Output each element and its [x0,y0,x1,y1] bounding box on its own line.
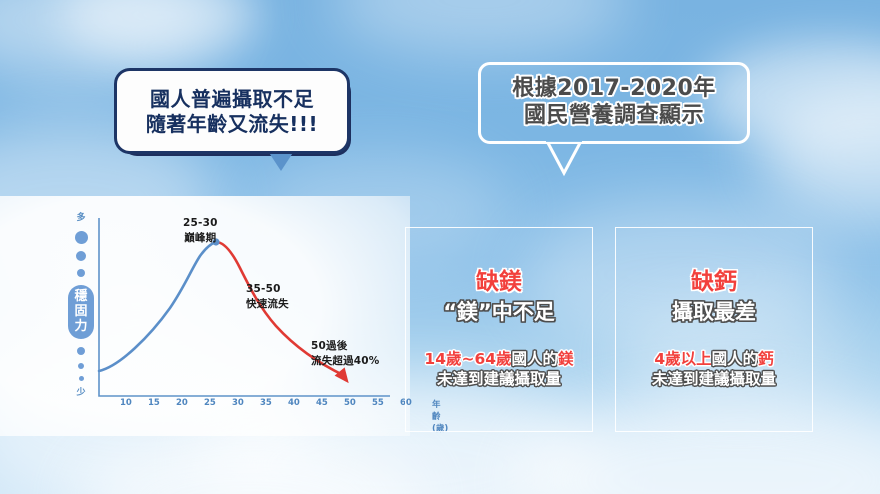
bubble-secondary-tail [478,141,598,187]
annotation-after-fifty: 50過後 流失超過40% [311,339,380,369]
card-calcium-body: 4歲以上國人的鈣 未達到建議攝取量 [652,349,776,389]
y-axis-label-char-2: 固 [74,305,87,319]
x-tick-label: 15 [148,398,160,408]
y-axis-dot-large [75,231,88,244]
bubble-primary: 國人普遍攝取不足 隨著年齡又流失!!! [114,68,344,148]
infographic-slide: 25-30 巔峰期 35-50 快速流失 50過後 流失超過40% 多 穩 固 … [0,0,880,494]
card-magnesium-subheading: “鎂”中不足 [443,301,555,325]
card-magnesium-body-mid: 國人的 [512,350,559,368]
card-calcium-nutrient: 鈣 [758,350,774,368]
curve-rising [99,242,216,371]
bubble-secondary-line2: 國民營養調查顯示 [524,104,704,129]
card-magnesium-heading: 缺鎂 [476,270,522,295]
bubble-secondary-line1: 根據2017-2020年 [512,77,716,102]
card-calcium-subheading: 攝取最差 [672,301,756,325]
card-magnesium: 缺鎂 “鎂”中不足 14歲~64歲國人的鎂 未達到建議攝取量 [405,227,593,432]
annotation-peak: 25-30 巔峰期 [183,216,218,246]
y-axis-dot-small-2 [77,347,85,355]
x-tick-label: 35 [260,398,272,408]
y-axis-top-label: 多 [76,214,85,223]
y-axis-dot-small [77,269,85,277]
x-tick-label: 10 [120,398,132,408]
x-tick-label: 45 [316,398,328,408]
card-magnesium-body: 14歲~64歲國人的鎂 未達到建議攝取量 [424,349,573,389]
bubble-secondary: 根據2017-2020年 國民營養調查顯示 [478,62,750,144]
bubble-primary-body: 國人普遍攝取不足 隨著年齡又流失!!! [114,68,350,154]
x-tick-label: 25 [204,398,216,408]
annotation-peak-line2: 巔峰期 [183,231,218,246]
annotation-after-fifty-line1: 50過後 [311,339,380,354]
y-axis-stability-scale: 多 穩 固 力 少 [66,214,96,398]
bubble-secondary-body: 根據2017-2020年 國民營養調查顯示 [478,62,750,144]
x-tick-label: 40 [288,398,300,408]
y-axis-label-char-1: 穩 [74,290,87,304]
y-axis-dot-small-4 [79,376,84,381]
annotation-rapid-loss: 35-50 快速流失 [246,282,289,312]
card-calcium-body-mid: 國人的 [712,350,759,368]
x-tick-label: 30 [232,398,244,408]
card-calcium-age-range: 4歲以上 [654,350,711,368]
y-axis-label-pill: 穩 固 力 [68,285,94,339]
annotation-rapid-loss-line1: 35-50 [246,282,289,297]
y-axis-label-char-3: 力 [74,320,87,334]
x-tick-label: 20 [176,398,188,408]
card-magnesium-age-range: 14歲~64歲 [424,350,511,368]
x-tick-label: 50 [344,398,356,408]
x-tick-label: 55 [372,398,384,408]
bubble-primary-line2: 隨著年齡又流失!!! [146,113,318,135]
card-calcium-body-line2: 未達到建議攝取量 [652,369,776,389]
card-calcium-body-line1: 4歲以上國人的鈣 [652,349,776,369]
annotation-peak-line1: 25-30 [183,216,218,231]
bubble-primary-line1: 國人普遍攝取不足 [150,88,314,110]
card-calcium: 缺鈣 攝取最差 4歲以上國人的鈣 未達到建議攝取量 [615,227,813,432]
card-magnesium-body-line2: 未達到建議攝取量 [424,369,573,389]
x-axis-labels: 10 15 20 25 30 35 40 45 50 55 60 年齡(歲) [0,398,420,416]
annotation-after-fifty-line2: 流失超過40% [311,354,380,369]
y-axis-dot-small-3 [78,363,84,369]
card-calcium-heading: 缺鈣 [691,270,737,295]
card-magnesium-body-line1: 14歲~64歲國人的鎂 [424,349,573,369]
y-axis-dot-medium [76,251,86,261]
card-magnesium-nutrient: 鎂 [558,350,574,368]
annotation-rapid-loss-line2: 快速流失 [246,297,289,312]
y-axis-bottom-label: 少 [76,389,85,398]
